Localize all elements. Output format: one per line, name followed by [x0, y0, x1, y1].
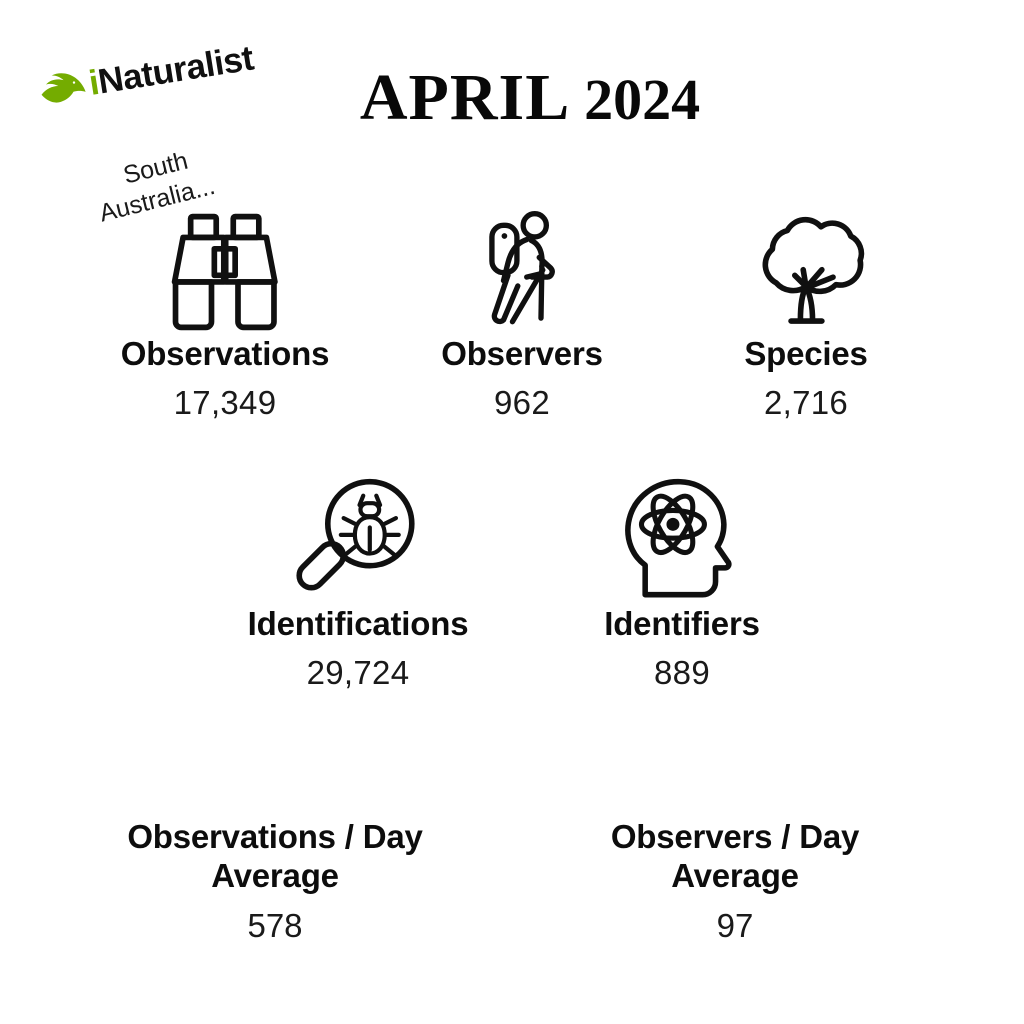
- brand-wordmark: iNaturalist: [87, 40, 256, 100]
- stat-identifications: Identifications 29,724: [248, 466, 469, 693]
- brand-wordmark-rest: Naturalist: [95, 39, 256, 102]
- stat-label: Identifiers: [604, 606, 760, 643]
- head-atom-icon: [604, 466, 760, 606]
- infographic-canvas: iNaturalist South Australia... APRIL 202…: [0, 0, 1024, 1024]
- stat-label: Observations: [121, 336, 330, 373]
- hiker-icon: [441, 196, 602, 336]
- stat-label: Species: [736, 336, 876, 373]
- stat-value: 889: [604, 653, 760, 693]
- stat-label-line-2: Average: [65, 857, 485, 896]
- stat-species: Species 2,716: [736, 196, 876, 423]
- stat-value: 962: [441, 383, 602, 423]
- stat-label-line-1: Observations / Day: [65, 818, 485, 857]
- stat-observers: Observers 962: [441, 196, 602, 423]
- tree-icon: [736, 196, 876, 336]
- stat-observers-per-day: Observers / Day Average 97: [525, 818, 945, 945]
- title-year: 2024: [584, 67, 700, 132]
- title-month: APRIL: [360, 61, 567, 134]
- brand-lockup: iNaturalist: [37, 40, 255, 108]
- stat-label: Identifications: [248, 606, 469, 643]
- stat-value: 2,716: [736, 383, 876, 423]
- stat-value: 97: [525, 906, 945, 946]
- stat-value: 578: [65, 906, 485, 946]
- stat-observations-per-day: Observations / Day Average 578: [65, 818, 485, 945]
- stat-label: Observers: [441, 336, 602, 373]
- stat-observations: Observations 17,349: [121, 196, 330, 423]
- stat-value: 17,349: [121, 383, 330, 423]
- binoculars-icon: [121, 196, 330, 336]
- stat-label-line-2: Average: [525, 857, 945, 896]
- stat-value: 29,724: [248, 653, 469, 693]
- magnifier-bug-icon: [248, 466, 469, 606]
- brand-logo-block: iNaturalist South Australia...: [36, 62, 296, 182]
- stat-identifiers: Identifiers 889: [604, 466, 760, 693]
- stat-label-line-1: Observers / Day: [525, 818, 945, 857]
- page-title: APRIL 2024: [330, 63, 730, 132]
- bird-icon: [37, 68, 88, 109]
